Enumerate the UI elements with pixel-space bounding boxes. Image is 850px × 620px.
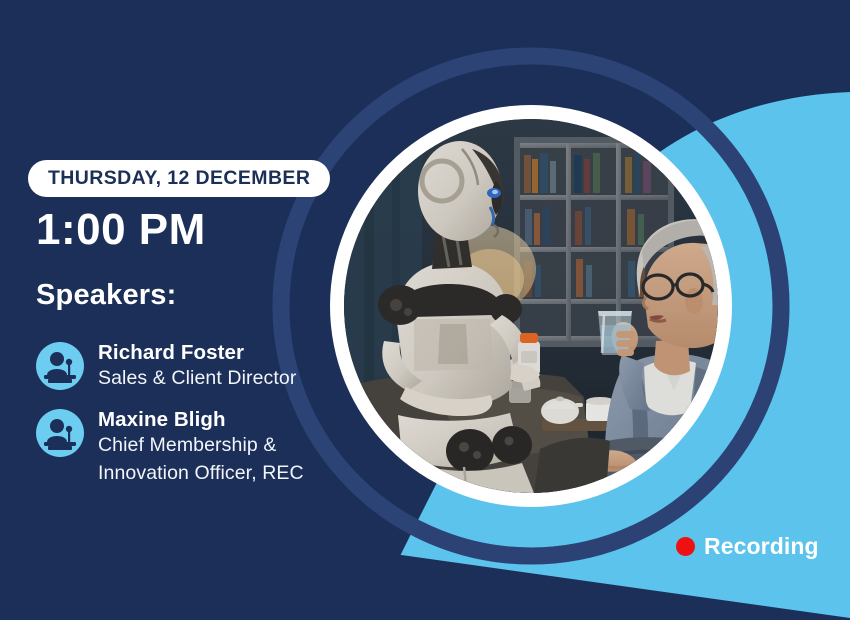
speaker-photo-circle: [330, 105, 732, 507]
speaker-podium-avatar-icon: [36, 342, 84, 390]
event-date-label: THURSDAY, 12 DECEMBER: [48, 167, 310, 190]
event-time-label: 1:00 PM: [36, 208, 206, 252]
speakers-heading: Speakers:: [36, 280, 176, 312]
speaker-text: Maxine Bligh Chief Membership & Innovati…: [98, 407, 336, 488]
slide-canvas: THURSDAY, 12 DECEMBER 1:00 PM Speakers:: [0, 0, 850, 620]
recording-indicator: Recording: [676, 533, 819, 560]
speaker-item: Maxine Bligh Chief Membership & Innovati…: [36, 407, 336, 488]
speaker-podium-avatar-icon: [36, 409, 84, 457]
speaker-role: Sales & Client Director: [98, 365, 296, 393]
record-dot-icon: [676, 537, 695, 556]
speaker-photo: [344, 119, 718, 493]
speaker-name: Maxine Bligh: [98, 408, 336, 432]
speaker-role: Chief Membership & Innovation Officer, R…: [98, 432, 336, 487]
recording-label: Recording: [704, 533, 819, 560]
event-date-pill: THURSDAY, 12 DECEMBER: [28, 160, 330, 197]
speaker-name: Richard Foster: [98, 341, 296, 365]
speaker-text: Richard Foster Sales & Client Director: [98, 340, 296, 393]
speaker-item: Richard Foster Sales & Client Director: [36, 340, 336, 393]
event-info-panel: THURSDAY, 12 DECEMBER 1:00 PM Speakers:: [0, 0, 340, 620]
photo-illustration: [344, 119, 718, 493]
speaker-list: Richard Foster Sales & Client Director: [36, 340, 336, 501]
